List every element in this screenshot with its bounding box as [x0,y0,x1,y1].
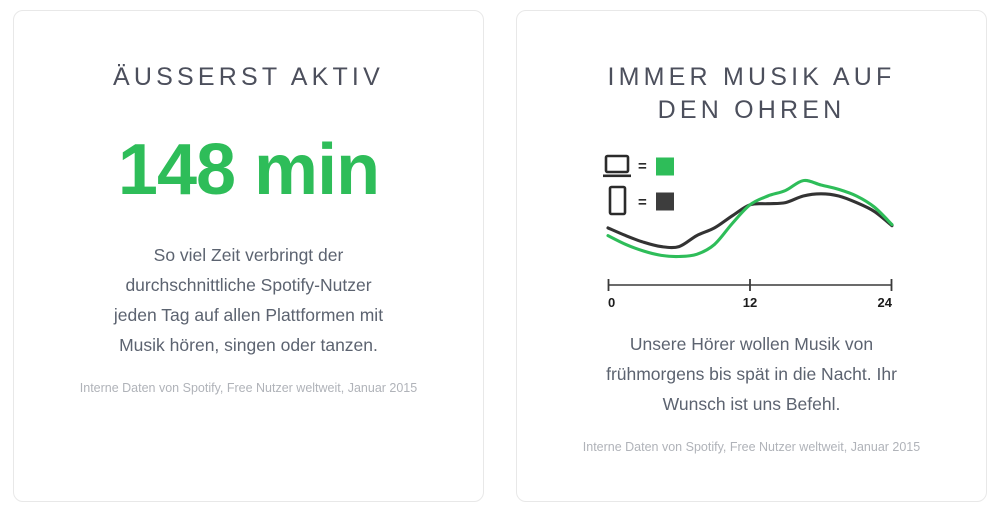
desktop-computer-icon [603,156,631,177]
chart-line-mobile [608,194,892,248]
stat-card-immer-musik: IMMER MUSIK AUF DEN OHREN = [516,10,987,502]
x-tick-label-24: 24 [877,295,892,310]
card-title-left: ÄUSSERST AKTIV [52,61,445,94]
listening-by-hour-line-chart: = = [592,149,912,319]
stat-card-aeusserst-aktiv: ÄUSSERST AKTIV 148 min So viel Zeit verb… [13,10,484,502]
big-stat-value: 148 min [52,130,445,210]
legend-swatch-mobile [656,193,674,211]
chart-container: = = [555,149,948,319]
card-body-left: So viel Zeit verbringt der durchschnittl… [52,240,445,360]
legend-swatch-desktop [656,158,674,176]
x-tick-label-0: 0 [608,295,615,310]
x-tick-label-12: 12 [742,295,756,310]
chart-legend: = = [603,156,674,214]
chart-x-axis: 0 12 24 [608,279,893,310]
card-footnote-left: Interne Daten von Spotify, Free Nutzer w… [52,378,445,398]
cards-container: ÄUSSERST AKTIV 148 min So viel Zeit verb… [0,0,1000,512]
card-body-right: Unsere Hörer wollen Musik von frühmorgen… [555,329,948,419]
mobile-phone-icon [610,187,625,214]
card-footnote-right: Interne Daten von Spotify, Free Nutzer w… [555,437,948,457]
legend-equals-mobile: = [638,194,647,211]
legend-equals-desktop: = [638,158,647,175]
card-content-left: ÄUSSERST AKTIV 148 min So viel Zeit verb… [14,11,483,410]
card-title-right: IMMER MUSIK AUF DEN OHREN [555,61,948,127]
card-content-right: IMMER MUSIK AUF DEN OHREN = [517,11,986,469]
